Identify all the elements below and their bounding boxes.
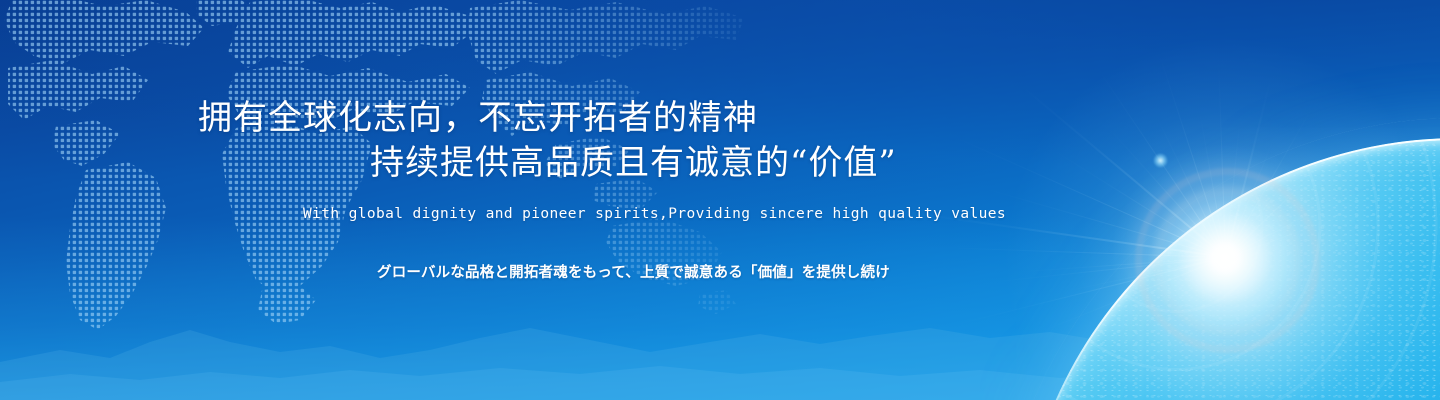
subheadline-japanese: グローバルな品格と開拓者魂をもって、上質で誠意ある「価値」を提供し続け bbox=[377, 261, 890, 282]
subheadline-english: With global dignity and pioneer spirits,… bbox=[303, 206, 1006, 222]
banner-copy: 拥有全球化志向，不忘开拓者的精神 持续提供高品质且有诚意的“价值” With g… bbox=[0, 0, 1120, 400]
headline-chinese-line-1: 拥有全球化志向，不忘开拓者的精神 bbox=[198, 90, 758, 139]
headline-chinese-line-2: 持续提供高品质且有诚意的“价值” bbox=[370, 135, 897, 184]
hero-banner: 拥有全球化志向，不忘开拓者的精神 持续提供高品质且有诚意的“价值” With g… bbox=[0, 0, 1440, 400]
lens-flare-dot bbox=[1153, 153, 1168, 168]
